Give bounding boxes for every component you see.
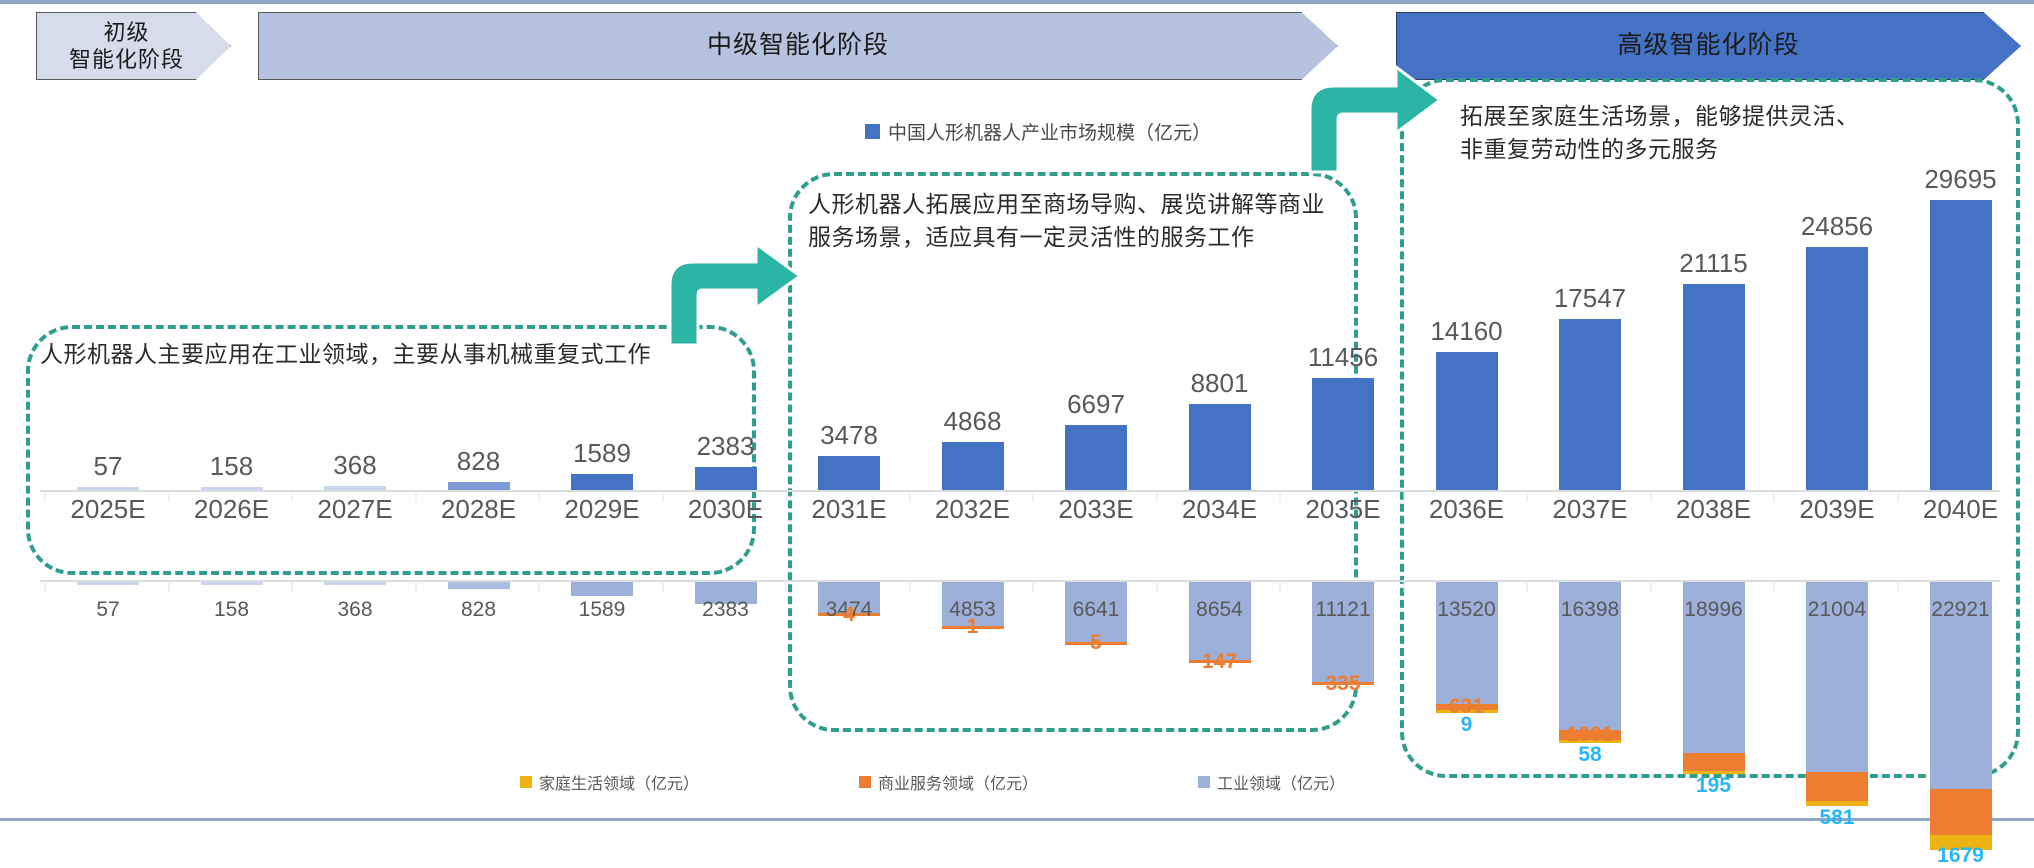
chart-column: 15892029E1589 — [539, 90, 665, 780]
x-axis-label: 2037E — [1552, 494, 1627, 525]
segment-value-commercial: 1 — [967, 615, 979, 639]
bar-total — [818, 456, 880, 490]
bar-total — [571, 474, 633, 490]
bar-value-label: 24856 — [1801, 211, 1873, 242]
segment-industrial — [448, 582, 510, 589]
segment-value-commercial: 1925 — [1690, 750, 1737, 774]
bottom-rule — [0, 818, 2034, 821]
chart-column: 34782031E34744 — [786, 90, 912, 780]
axis-tick-lower — [1280, 580, 1281, 592]
axis-tick-upper — [1033, 490, 1034, 502]
bar-total — [695, 467, 757, 490]
segment-industrial — [571, 582, 633, 596]
bar-value-label: 14160 — [1430, 316, 1502, 347]
chart-column: 23832030E2383 — [663, 90, 789, 780]
bar-total — [942, 442, 1004, 490]
chart-column: 114562035E11121335 — [1280, 90, 1406, 780]
chart-column: 248562039E210043272581 — [1774, 90, 1900, 780]
x-axis-label: 2025E — [70, 494, 145, 525]
bar-value-label: 17547 — [1554, 283, 1626, 314]
segment-industrial — [324, 582, 386, 585]
bar-total — [77, 487, 139, 490]
segment-value-commercial: 147 — [1202, 650, 1237, 674]
bar-value-label: 4868 — [944, 406, 1002, 437]
bar-stacked-breakdown — [77, 582, 139, 585]
x-axis-label: 2026E — [194, 494, 269, 525]
x-axis-label: 2034E — [1182, 494, 1257, 525]
axis-tick-upper — [45, 490, 46, 502]
x-axis-label: 2027E — [317, 494, 392, 525]
axis-tick-upper — [1650, 490, 1651, 502]
bar-stacked-breakdown — [324, 582, 386, 585]
chart-columns: 572025E571582026E1583682027E3688282028E8… — [0, 90, 2034, 780]
axis-tick-upper — [1527, 490, 1528, 502]
axis-tick-upper — [1897, 490, 1898, 502]
bar-value-label: 2383 — [697, 431, 755, 462]
chart-column: 88012034E8654147 — [1157, 90, 1283, 780]
axis-tick-upper — [539, 490, 540, 502]
bar-total — [448, 482, 510, 490]
segment-industrial — [201, 582, 263, 585]
bar-stacked-breakdown — [571, 582, 633, 596]
axis-tick-lower — [1156, 580, 1157, 592]
stage-banner-intermediate-label: 中级智能化阶段 — [707, 30, 889, 61]
chart-column: 572025E57 — [45, 90, 171, 780]
bar-total — [1436, 352, 1498, 490]
x-axis-label: 2036E — [1429, 494, 1504, 525]
stage-banner-primary-label: 初级智能化阶段 — [69, 19, 184, 74]
axis-tick-upper — [1403, 490, 1404, 502]
chart-column: 48682032E48531 — [910, 90, 1036, 780]
segment-value-industrial: 21004 — [1808, 598, 1866, 622]
chart-column: 8282028E828 — [416, 90, 542, 780]
stage-banner-advanced-label: 高级智能化阶段 — [1617, 30, 1799, 61]
bar-value-label: 21115 — [1679, 248, 1747, 279]
segment-value-commercial: 5094 — [1937, 800, 1984, 824]
axis-tick-upper — [909, 490, 910, 502]
chart-column: 296952040E2292150941679 — [1898, 90, 2024, 780]
axis-tick-lower — [1033, 580, 1034, 592]
bar-total — [1065, 425, 1127, 490]
axis-tick-lower — [1403, 580, 1404, 592]
segment-value-home: 195 — [1696, 774, 1731, 798]
segment-value-industrial: 1589 — [579, 598, 626, 622]
segment-value-commercial: 3272 — [1814, 774, 1861, 798]
bar-total — [1683, 284, 1745, 490]
segment-value-industrial: 13520 — [1437, 598, 1495, 622]
chart-column: 1582026E158 — [169, 90, 295, 780]
axis-tick-lower — [415, 580, 416, 592]
bar-total — [1189, 404, 1251, 490]
bar-value-label: 11456 — [1308, 342, 1378, 373]
segment-value-industrial: 8654 — [1196, 598, 1243, 622]
segment-value-industrial: 368 — [337, 598, 372, 622]
axis-tick-lower — [1774, 580, 1775, 592]
axis-tick-lower — [45, 580, 46, 592]
segment-value-commercial: 4 — [843, 603, 855, 627]
bar-value-label: 8801 — [1191, 368, 1249, 399]
stage-banner-intermediate: 中级智能化阶段 — [258, 12, 1338, 80]
axis-tick-upper — [786, 490, 787, 502]
segment-value-industrial: 57 — [96, 598, 119, 622]
bar-total — [1559, 319, 1621, 490]
axis-tick-lower — [1527, 580, 1528, 592]
x-axis-label: 2029E — [564, 494, 639, 525]
bar-total — [1930, 200, 1992, 490]
axis-tick-lower — [662, 580, 663, 592]
x-axis-label: 2040E — [1923, 494, 1998, 525]
axis-tick-upper — [168, 490, 169, 502]
segment-value-industrial: 828 — [461, 598, 496, 622]
axis-tick-lower — [1897, 580, 1898, 592]
chart-column: 211152038E189961925195 — [1651, 90, 1777, 780]
chart-column: 66972033E66415 — [1033, 90, 1159, 780]
bar-value-label: 828 — [457, 446, 500, 477]
bar-total — [201, 487, 263, 490]
bar-value-label: 158 — [210, 451, 253, 482]
bar-value-label: 3478 — [820, 420, 878, 451]
bar-stacked-breakdown — [201, 582, 263, 585]
axis-tick-upper — [1156, 490, 1157, 502]
segment-value-industrial: 11121 — [1315, 598, 1370, 622]
axis-tick-lower — [786, 580, 787, 592]
axis-tick-upper — [1280, 490, 1281, 502]
x-axis-label: 2030E — [688, 494, 763, 525]
segment-value-industrial: 6641 — [1073, 598, 1120, 622]
axis-tick-upper — [415, 490, 416, 502]
chart-column: 175472037E16398109158 — [1527, 90, 1653, 780]
x-axis-label: 2028E — [441, 494, 516, 525]
axis-tick-lower — [292, 580, 293, 592]
segment-value-home: 1679 — [1937, 844, 1984, 868]
segment-value-home: 9 — [1461, 713, 1473, 737]
x-axis-label: 2038E — [1676, 494, 1751, 525]
axis-tick-upper — [1774, 490, 1775, 502]
segment-value-industrial: 2383 — [702, 598, 749, 622]
axis-tick-upper — [662, 490, 663, 502]
stage-banner-primary: 初级智能化阶段 — [36, 12, 231, 80]
axis-tick-lower — [1650, 580, 1651, 592]
chart-area: 572025E571582026E1583682027E3688282028E8… — [0, 90, 2034, 780]
segment-industrial — [77, 582, 139, 585]
segment-value-industrial: 158 — [214, 598, 249, 622]
segment-value-industrial: 18996 — [1684, 598, 1742, 622]
top-rule — [0, 0, 2034, 4]
bar-total — [1312, 378, 1374, 490]
chart-column: 3682027E368 — [292, 90, 418, 780]
axis-tick-lower — [539, 580, 540, 592]
bar-stacked-breakdown — [448, 582, 510, 589]
bar-value-label: 29695 — [1924, 164, 1996, 195]
x-axis-label: 2035E — [1305, 494, 1380, 525]
axis-tick-upper — [292, 490, 293, 502]
segment-value-industrial: 16398 — [1561, 598, 1619, 622]
bar-value-label: 1589 — [573, 438, 631, 469]
x-axis-label: 2039E — [1799, 494, 1874, 525]
bar-value-label: 57 — [94, 451, 123, 482]
segment-value-commercial: 335 — [1325, 672, 1360, 696]
bar-total — [1806, 247, 1868, 490]
segment-value-commercial: 5 — [1090, 631, 1102, 655]
x-axis-label: 2033E — [1058, 494, 1133, 525]
axis-tick-lower — [168, 580, 169, 592]
chart-column: 141602036E135206319 — [1404, 90, 1530, 780]
x-axis-label: 2031E — [811, 494, 886, 525]
segment-value-home: 581 — [1819, 806, 1854, 830]
x-axis-label: 2032E — [935, 494, 1010, 525]
bar-value-label: 6697 — [1067, 389, 1125, 420]
segment-value-industrial: 22921 — [1931, 598, 1989, 622]
stage-banner-advanced: 高级智能化阶段 — [1396, 12, 2021, 80]
segment-value-home: 58 — [1578, 743, 1601, 767]
axis-tick-lower — [909, 580, 910, 592]
bar-total — [324, 486, 386, 490]
bar-value-label: 368 — [333, 450, 376, 481]
